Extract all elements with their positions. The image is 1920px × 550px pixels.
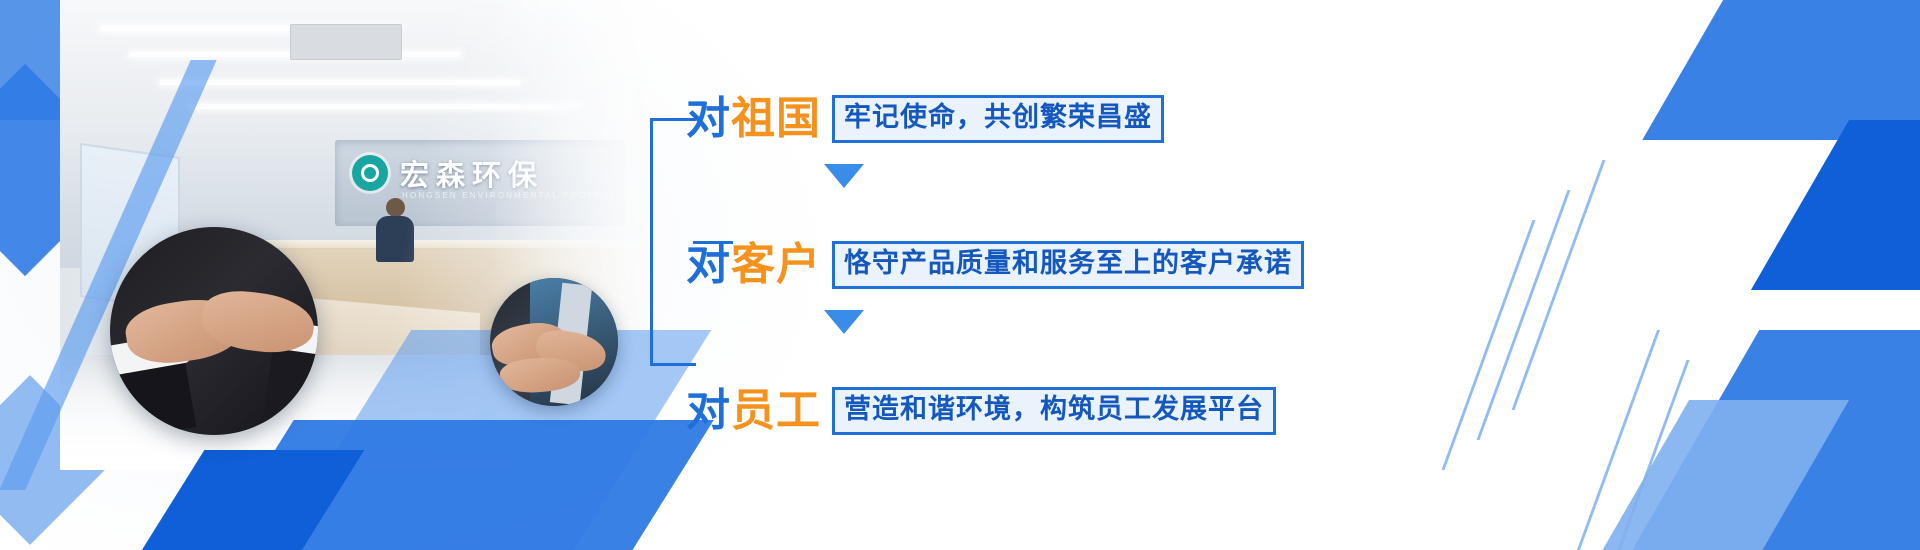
commitment-lead-prefix-1: 对 bbox=[686, 93, 731, 144]
decor-line-3 bbox=[1442, 220, 1536, 470]
decor-shape-top-right bbox=[1642, 0, 1920, 140]
commitment-lead-prefix-2: 对 bbox=[686, 239, 731, 290]
receptionist-figure bbox=[372, 198, 418, 260]
commitment-row-1: 对祖国 牢记使命，共创繁荣昌盛 bbox=[686, 88, 1304, 150]
arrow-down-icon-1 bbox=[824, 164, 864, 188]
decor-line-2 bbox=[1477, 190, 1571, 440]
company-logo-icon bbox=[352, 155, 388, 191]
arrow-down-icon-2 bbox=[824, 310, 864, 334]
commitment-rows: 对祖国 牢记使命，共创繁荣昌盛 对客户 恪守产品质量和服务至上的客户承诺 对员工… bbox=[686, 78, 1304, 442]
teamwork-photo-circle bbox=[490, 278, 618, 406]
commitment-tag-2: 恪守产品质量和服务至上的客户承诺 bbox=[832, 241, 1304, 289]
promo-banner: 宏森环保 HONGSEN ENVIRONMENTAL PROTECTION bbox=[0, 0, 1920, 550]
commitment-tag-1: 牢记使命，共创繁荣昌盛 bbox=[832, 95, 1164, 143]
commitment-lead-target-3: 员工 bbox=[731, 385, 821, 436]
commitment-lead-2: 对客户 bbox=[686, 243, 821, 287]
decor-line-1 bbox=[1512, 160, 1606, 410]
commitment-row-3: 对员工 营造和谐环境，构筑员工发展平台 bbox=[686, 380, 1304, 442]
commitment-lead-target-2: 客户 bbox=[731, 239, 821, 290]
handshake-photo-circle bbox=[110, 227, 318, 435]
commitment-row-2: 对客户 恪守产品质量和服务至上的客户承诺 bbox=[686, 234, 1304, 296]
commitment-lead-1: 对祖国 bbox=[686, 97, 821, 141]
commitment-lead-prefix-3: 对 bbox=[686, 385, 731, 436]
commitment-lead-3: 对员工 bbox=[686, 389, 821, 433]
commitments-group: 对祖国 牢记使命，共创繁荣昌盛 对客户 恪守产品质量和服务至上的客户承诺 对员工… bbox=[650, 78, 1350, 398]
commitment-tag-3: 营造和谐环境，构筑员工发展平台 bbox=[832, 387, 1276, 435]
decor-shape-right-dark bbox=[1751, 120, 1920, 290]
commitment-lead-target-1: 祖国 bbox=[731, 93, 821, 144]
